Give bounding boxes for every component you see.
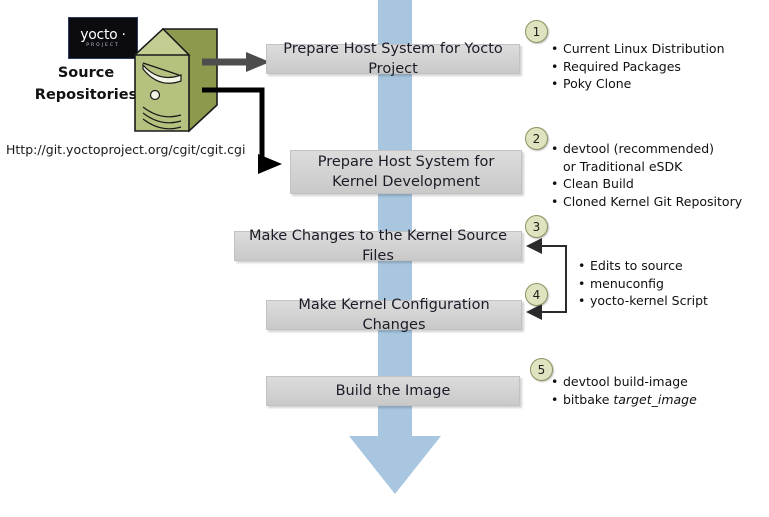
bitbake-target-image-variable: target_image bbox=[613, 392, 696, 407]
process-box-make-kernel-config-changes[interactable]: Make Kernel Configuration Changes bbox=[266, 300, 522, 330]
process-box-prepare-host-kernel[interactable]: Prepare Host System for Kernel Developme… bbox=[290, 150, 522, 194]
bullet-list-step-5: devtool build-image bitbake target_image bbox=[551, 373, 731, 408]
list-item: yocto-kernel Script bbox=[578, 292, 738, 310]
step-circle-1: 1 bbox=[525, 20, 548, 43]
list-item: menuconfig bbox=[578, 275, 738, 293]
source-label-line2: Repositories bbox=[22, 84, 150, 106]
bullet-list-step-1: Current Linux Distribution Required Pack… bbox=[551, 40, 751, 93]
yocto-kernel-development-flow-diagram: yocto · PROJECT Source Repositories Http… bbox=[0, 0, 769, 517]
source-repositories-label: Source Repositories bbox=[22, 62, 150, 106]
repository-url-text: Http://git.yoctoproject.org/cgit/cgit.cg… bbox=[6, 142, 245, 157]
bullet-list-step-2: devtool (recommended) or Traditional eSD… bbox=[551, 140, 726, 210]
list-item: Current Linux Distribution bbox=[551, 40, 751, 58]
list-item: devtool build-image bbox=[551, 373, 731, 391]
list-item: Required Packages bbox=[551, 58, 751, 76]
step-circle-3: 3 bbox=[525, 215, 548, 238]
process-box-build-the-image[interactable]: Build the Image bbox=[266, 376, 520, 406]
list-item: Clean Build bbox=[551, 175, 726, 193]
step-circle-4: 4 bbox=[525, 283, 548, 306]
list-item: Cloned Kernel Git Repository bbox=[551, 193, 726, 211]
source-label-line1: Source bbox=[22, 62, 150, 84]
bitbake-command-prefix: bitbake bbox=[563, 392, 613, 407]
spine-down-arrow-icon bbox=[345, 436, 445, 498]
step-circle-5: 5 bbox=[530, 358, 553, 381]
process-box-prepare-host-yocto[interactable]: Prepare Host System for Yocto Project bbox=[266, 44, 520, 74]
process-box-make-kernel-source-changes[interactable]: Make Changes to the Kernel Source Files bbox=[234, 231, 522, 261]
step-circle-2: 2 bbox=[525, 127, 548, 150]
list-item: Edits to source bbox=[578, 257, 738, 275]
yocto-project-logo: yocto · PROJECT bbox=[68, 17, 138, 59]
yocto-logo-subtext: PROJECT bbox=[86, 44, 119, 49]
list-item: devtool (recommended) or Traditional eSD… bbox=[551, 140, 726, 175]
bullet-list-steps-3-and-4: Edits to source menuconfig yocto-kernel … bbox=[578, 257, 738, 310]
list-item: bitbake target_image bbox=[551, 391, 731, 409]
server-tower-icon bbox=[133, 27, 219, 139]
yocto-logo-wordmark: yocto · bbox=[80, 28, 125, 42]
list-item: Poky Clone bbox=[551, 75, 751, 93]
